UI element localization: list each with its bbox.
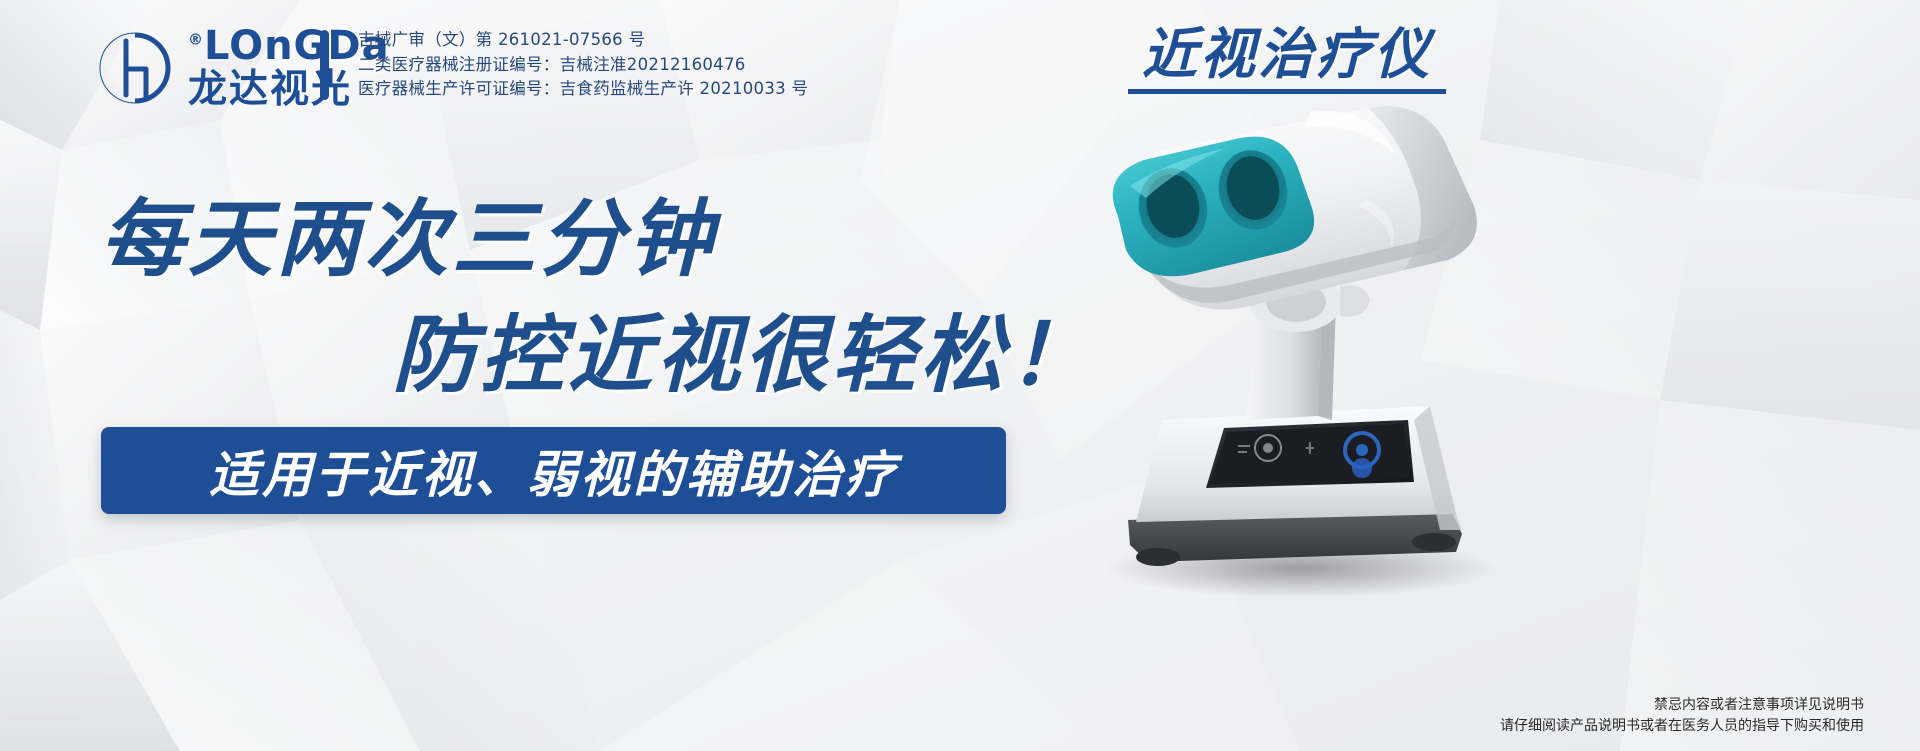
headline-line-2: 防控近视很轻松！ <box>392 288 1096 409</box>
disclaimer-line-1: 禁忌内容或者注意事项详见说明书 <box>1500 695 1864 716</box>
product-title-underline <box>1128 89 1446 94</box>
disclaimer-line-2: 请仔细阅读产品说明书或者在医务人员的指导下购买和使用 <box>1500 716 1864 737</box>
product-title: 近视治疗仪 <box>1128 26 1446 94</box>
regulatory-text-block: 吉械广审（文）第 261021-07566 号 二类医疗器械注册证编号：吉械注准… <box>358 28 808 102</box>
callout-text: 适用于近视、弱视的辅助治疗 <box>209 435 898 507</box>
callout-bar: 适用于近视、弱视的辅助治疗 <box>101 427 1006 514</box>
regulatory-line-3: 医疗器械生产许可证编号：吉食药监械生产许 20210033 号 <box>358 77 808 102</box>
disclaimer-block: 禁忌内容或者注意事项详见说明书 请仔细阅读产品说明书或者在医务人员的指导下购买和… <box>1500 695 1864 737</box>
advertisement-banner: ®LOnGDa 龙达视光 吉械广审（文）第 261021-07566 号 二类医… <box>0 0 1920 751</box>
vertical-divider <box>320 30 329 100</box>
product-title-text: 近视治疗仪 <box>1128 26 1446 84</box>
brand-logo: ®LOnGDa 龙达视光 <box>96 26 390 109</box>
logo-registered-icon: ® <box>188 31 204 49</box>
regulatory-line-2: 二类医疗器械注册证编号：吉械注准20212160476 <box>358 53 808 78</box>
regulatory-line-1: 吉械广审（文）第 261021-07566 号 <box>358 28 808 53</box>
longda-circle-monogram-icon <box>96 29 174 107</box>
headline-line-1: 每天两次三分钟 <box>100 172 716 293</box>
